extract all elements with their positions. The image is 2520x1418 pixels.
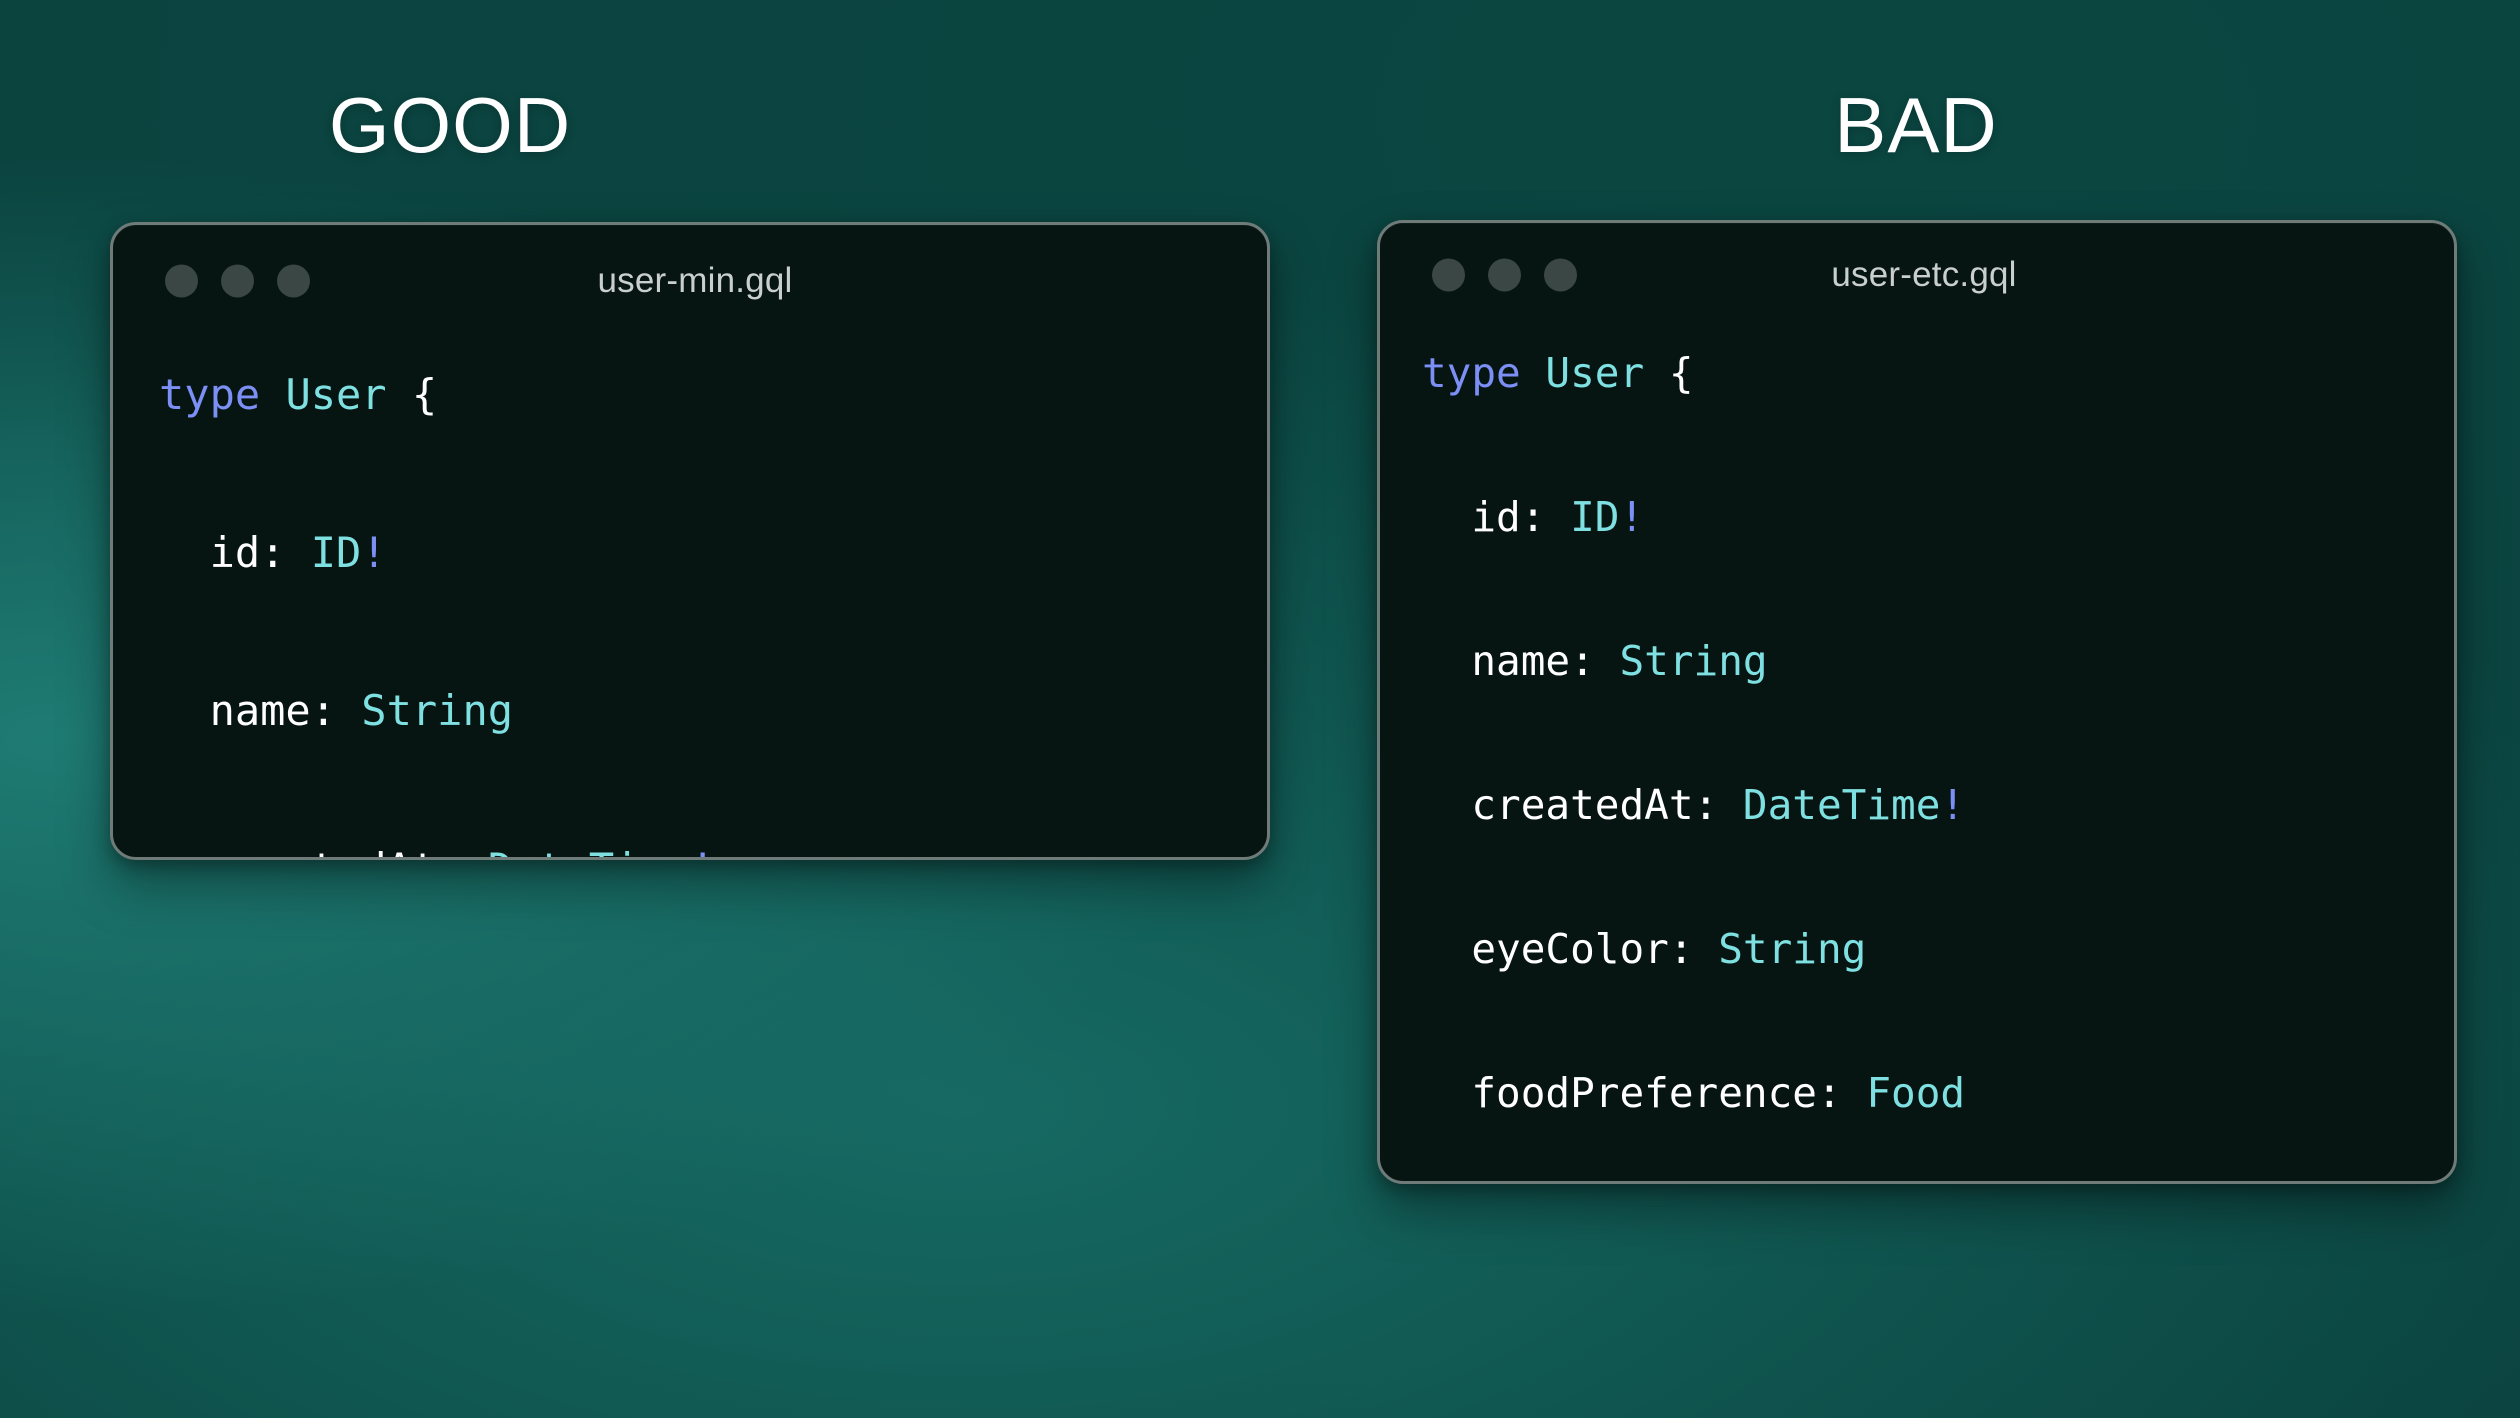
code-token-type: ID [1570,493,1619,541]
code-token-type: String [1718,925,1866,973]
code-line: id: ID! [159,513,1267,592]
code-token-type: String [361,686,513,735]
code-line: type User { [1422,337,2454,409]
code-window-bad: user-etc.gql type User { id: ID! name: S… [1377,220,2457,1184]
code-token-type: Food [1866,1069,1965,1117]
code-token-punct: id: [159,528,311,577]
code-editor-content[interactable]: type User { id: ID! name: String created… [113,337,1267,860]
code-editor-content[interactable]: type User { id: ID! name: String created… [1380,327,2454,1184]
code-token-kw: type [159,370,285,419]
code-line: id: ID! [1422,481,2454,553]
code-line: createdAt: DateTime! [1422,769,2454,841]
code-token-type: User [285,370,411,419]
code-token-bang: ! [361,528,386,577]
code-line: name: String [1422,625,2454,697]
code-token-type: User [1545,349,1668,397]
code-token-punct: createdAt: [1422,781,1743,829]
code-token-punct: foodPreference: [1422,1069,1866,1117]
panel-heading-bad: BAD [1377,86,2455,164]
code-token-punct: id: [1422,493,1570,541]
code-line: eyeColor: String [1422,913,2454,985]
code-token-punct: { [1669,349,1694,397]
code-token-bang: ! [690,844,715,860]
code-token-type: DateTime [488,844,690,860]
panel-heading-good: GOOD [110,86,790,164]
code-line: foodPreference: Food [1422,1057,2454,1129]
code-token-type: String [1619,637,1767,685]
window-filename: user-etc.gql [1380,255,2454,295]
window-titlebar: user-etc.gql [1380,223,2454,327]
comparison-stage: GOOD BAD user-min.gql type User { id: ID… [0,0,2520,1418]
code-token-punct: eyeColor: [1422,925,1718,973]
code-token-punct: { [412,370,437,419]
window-titlebar: user-min.gql [113,225,1267,337]
code-token-punct: name: [159,686,361,735]
code-line: name: String [159,671,1267,750]
code-token-bang: ! [1619,493,1644,541]
code-token-punct: createdAt: [159,844,488,860]
code-token-punct: name: [1422,637,1619,685]
code-token-kw: type [1422,349,1545,397]
code-line: createdAt: DateTime! [159,829,1267,860]
code-line: type User { [159,355,1267,434]
code-token-type: DateTime [1743,781,1940,829]
code-token-bang: ! [1940,781,1965,829]
window-filename: user-min.gql [113,261,1267,301]
code-window-good: user-min.gql type User { id: ID! name: S… [110,222,1270,860]
code-token-type: ID [311,528,362,577]
